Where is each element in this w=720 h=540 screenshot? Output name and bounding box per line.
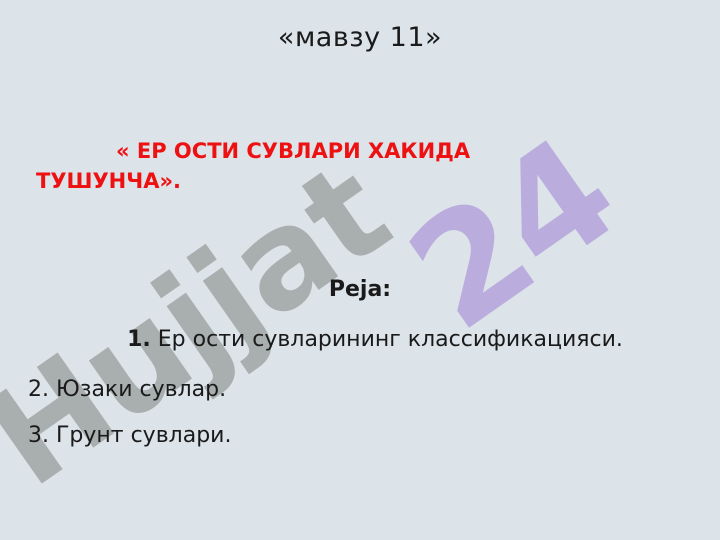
list-item-number: 3. <box>28 423 49 448</box>
list-item-number: 1. <box>127 327 151 352</box>
list-item-text: Грунт сувлари. <box>49 423 231 448</box>
list-item-number: 2. <box>28 377 49 402</box>
list-item: 2. Юзаки сувлар. <box>28 379 226 401</box>
list-item-text: Ер ости сувларининг классификацияси. <box>151 327 623 352</box>
subtitle-text: « ЕР ОСТИ СУВЛАРИ ХАКИДА ТУШУНЧА». <box>36 139 470 193</box>
slide-subtitle: « ЕР ОСТИ СУВЛАРИ ХАКИДА ТУШУНЧА». <box>36 136 576 197</box>
list-item-text: Юзаки сувлар. <box>49 377 226 402</box>
list-item: 1. Ер ости сувларининг классификацияси. <box>30 329 720 351</box>
slide-canvas: Hujjat 24 «мавзу 11» « ЕР ОСТИ СУВЛАРИ Х… <box>0 0 720 540</box>
slide-content: «мавзу 11» « ЕР ОСТИ СУВЛАРИ ХАКИДА ТУШУ… <box>0 0 720 540</box>
slide-title: «мавзу 11» <box>0 22 720 53</box>
reja-heading: Peja: <box>0 277 720 302</box>
list-item: 3. Грунт сувлари. <box>28 425 231 447</box>
